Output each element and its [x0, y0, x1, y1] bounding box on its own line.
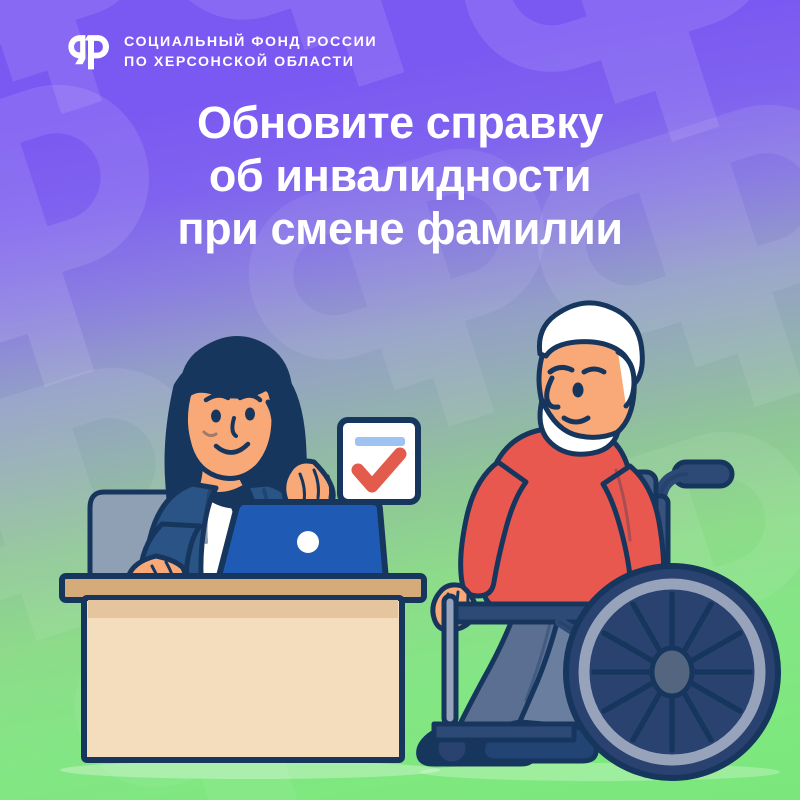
- brand-text: СОЦИАЛЬНЫЙ ФОНД РОССИИ ПО ХЕРСОНСКОЙ ОБЛ…: [124, 34, 377, 71]
- wheelchair-rear-wheel: [566, 566, 778, 778]
- document-line: [355, 437, 405, 446]
- office-desk: [62, 576, 424, 760]
- headline-line-3: при смене фамилии: [0, 202, 800, 255]
- page-title: Обновите справку об инвалидности при сме…: [0, 96, 800, 255]
- headline-line-1: Обновите справку: [0, 96, 800, 149]
- desk-shadow: [60, 761, 440, 779]
- brand-logo: СОЦИАЛЬНЫЙ ФОНД РОССИИ ПО ХЕРСОНСКОЙ ОБЛ…: [58, 26, 377, 78]
- sfr-monogram-icon: [58, 26, 110, 78]
- wheel-hub: [652, 648, 692, 696]
- poster-canvas: СОЦИАЛЬНЫЙ ФОНД РОССИИ ПО ХЕРСОНСКОЙ ОБЛ…: [0, 0, 800, 800]
- laptop-logo-icon: [297, 531, 319, 553]
- brand-line-2: ПО ХЕРСОНСКОЙ ОБЛАСТИ: [124, 54, 377, 71]
- brand-line-1: СОЦИАЛЬНЫЙ ФОНД РОССИИ: [124, 34, 377, 51]
- man-head: [539, 303, 642, 454]
- headline-line-2: об инвалидности: [0, 149, 800, 202]
- certificate-document: [340, 420, 418, 502]
